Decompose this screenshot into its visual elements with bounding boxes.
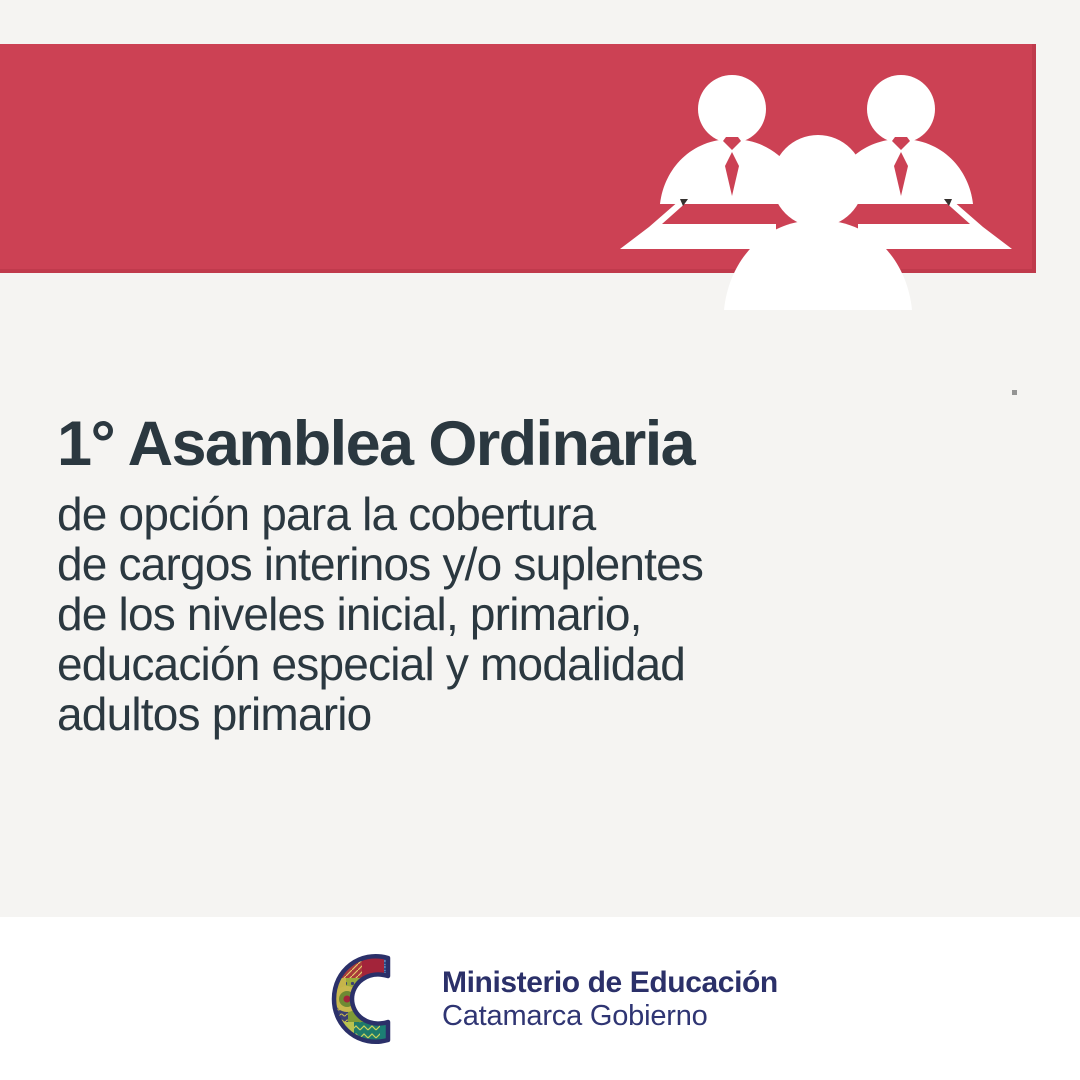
three-people-at-table-icon xyxy=(596,44,1040,334)
poster-canvas: 1° Asamblea Ordinaria de opción para la … xyxy=(0,0,1080,1080)
subtitle-group: de opción para la cobertura de cargos in… xyxy=(57,489,1017,739)
stray-speck-artifact xyxy=(1012,390,1017,395)
subtitle-line-3: de los niveles inicial, primario, xyxy=(57,589,1017,639)
government-name: Catamarca Gobierno xyxy=(442,1002,778,1031)
catamarca-c-logo-icon xyxy=(328,952,422,1046)
footer-logo-lockup: Ministerio de Educación Catamarca Gobier… xyxy=(328,952,778,1046)
logo-wordmark: Ministerio de Educación Catamarca Gobier… xyxy=(442,968,778,1031)
ministry-name: Ministerio de Educación xyxy=(442,968,778,998)
subtitle-line-5: adultos primario xyxy=(57,689,1017,739)
page-title: 1° Asamblea Ordinaria xyxy=(57,412,1017,476)
announcement-text-block: 1° Asamblea Ordinaria de opción para la … xyxy=(57,412,1017,739)
subtitle-line-2: de cargos interinos y/o suplentes xyxy=(57,539,1017,589)
subtitle-line-1: de opción para la cobertura xyxy=(57,489,1017,539)
subtitle-line-4: educación especial y modalidad xyxy=(57,639,1017,689)
